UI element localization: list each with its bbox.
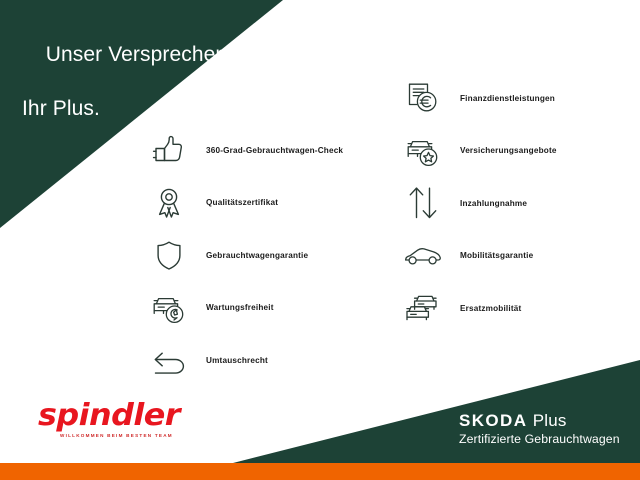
feature-item: Mobilitätsgarantie (400, 230, 557, 283)
feature-item: Inzahlungnahme (400, 177, 557, 230)
orange-footer-bar (0, 463, 640, 480)
feature-label: Inzahlungnahme (460, 199, 527, 208)
feature-item: Gebrauchtwagengarantie (146, 229, 343, 282)
feature-item: Finanzdienstleistungen (400, 72, 557, 125)
car-wrench-icon (146, 285, 192, 331)
feature-column-left: 360-Grad-Gebrauchtwagen-Check Qualitätsz… (146, 124, 343, 387)
brand-logo-subtitle: Zertifizierte Gebrauchtwagen (459, 431, 620, 447)
document-euro-icon (400, 75, 446, 121)
feature-item: Umtauschrecht (146, 334, 343, 387)
feature-label: Wartungsfreiheit (206, 303, 274, 312)
feature-item: Versicherungsangebote (400, 125, 557, 178)
feature-item: Wartungsfreiheit (146, 282, 343, 335)
two-cars-icon (400, 285, 446, 331)
feature-label: Umtauschrecht (206, 356, 268, 365)
return-arrow-icon (146, 337, 192, 383)
feature-label: Qualitätszertifikat (206, 198, 278, 207)
feature-label: Versicherungsangebote (460, 146, 557, 155)
promo-banner: Unser Versprechen. Ihr Plus. 360-Grad-Ge… (0, 0, 640, 480)
feature-item: Ersatzmobilität (400, 282, 557, 335)
shield-icon (146, 232, 192, 278)
headline-line-2: Ihr Plus. (22, 95, 233, 122)
feature-item: 360-Grad-Gebrauchtwagen-Check (146, 124, 343, 177)
brand-logo[interactable]: SKODA Plus Zertifizierte Gebrauchtwagen (459, 411, 620, 447)
headline-line-1: Unser Versprechen. (46, 43, 233, 66)
feature-column-right: Finanzdienstleistungen Versicherungsange… (400, 72, 557, 335)
feature-label: Gebrauchtwagengarantie (206, 251, 308, 260)
dealer-logo[interactable]: spindler WILLKOMMEN BEIM BESTEN TEAM (38, 401, 198, 438)
award-rosette-icon (146, 180, 192, 226)
feature-label: 360-Grad-Gebrauchtwagen-Check (206, 146, 343, 155)
brand-logo-suffix: Plus (533, 411, 567, 430)
feature-label: Ersatzmobilität (460, 304, 521, 313)
dealer-logo-tagline: WILLKOMMEN BEIM BESTEN TEAM (60, 433, 198, 438)
feature-label: Finanzdienstleistungen (460, 94, 555, 103)
feature-label: Mobilitätsgarantie (460, 251, 533, 260)
dealer-logo-name: spindler (38, 401, 208, 431)
feature-item: Qualitätszertifikat (146, 177, 343, 230)
brand-logo-row-1: SKODA Plus (459, 411, 620, 430)
up-down-arrows-icon (400, 180, 446, 226)
car-star-icon (400, 128, 446, 174)
brand-logo-name: SKODA (459, 411, 527, 430)
car-side-icon (400, 233, 446, 279)
thumbs-up-icon (146, 127, 192, 173)
